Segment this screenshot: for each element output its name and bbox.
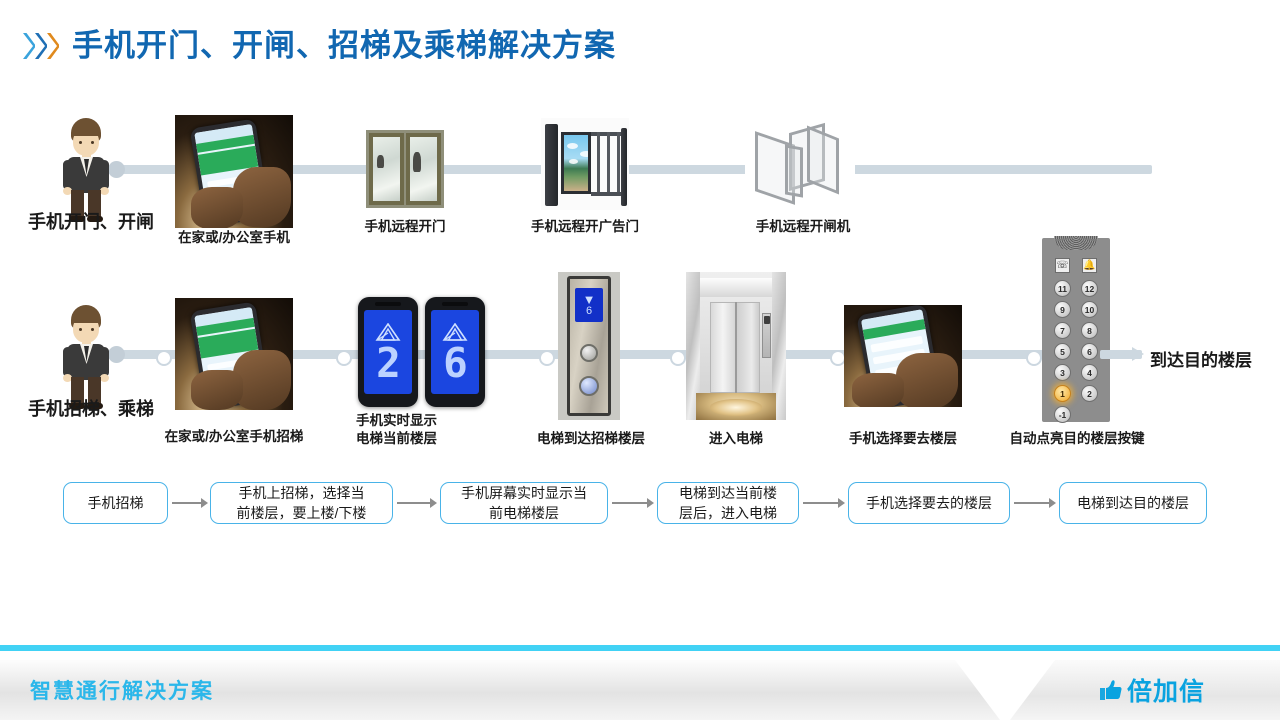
flow-box-6-text: 电梯到达目的楼层 <box>1077 493 1189 513</box>
row2-phone-select-floor-photo <box>844 305 962 407</box>
row2-phone-in-hand-photo <box>175 298 293 410</box>
thumbs-up-icon <box>1098 677 1124 703</box>
row2-hall-call-panel-photo: ▼ 6 <box>558 272 620 420</box>
brand-logo: 倍加信 <box>1098 672 1205 708</box>
row2-label: 手机招梯、乘梯 <box>28 395 154 421</box>
slide-root: 手机开门、开闸、招梯及乘梯解决方案 手机开门、开闸 在家或/办公室手机 <box>0 0 1280 720</box>
row2-caption-5: 手机选择要去楼层 <box>838 430 968 448</box>
flow-box-2-line1: 手机上招梯，选择当 <box>239 483 365 503</box>
floor-button-3[interactable]: 3 <box>1054 364 1071 381</box>
row1-caption-4: 手机远程开闸机 <box>740 218 866 236</box>
phone-icon[interactable]: ☏ <box>1055 258 1070 273</box>
row1-glass-door-photo <box>366 130 444 208</box>
floor-button-1-active[interactable]: 1 <box>1054 385 1071 402</box>
floor-button-8[interactable]: 8 <box>1081 322 1098 339</box>
blue-phone-right: 6 <box>425 297 485 407</box>
flow-arrow-3 <box>612 497 654 509</box>
row2-caption-4: 进入电梯 <box>690 430 782 448</box>
row2-caption-3: 电梯到达招梯楼层 <box>527 430 655 448</box>
flow-box-4-line1: 电梯到达当前楼 <box>679 483 777 503</box>
brand-logo-text: 倍加信 <box>1127 672 1205 708</box>
row1-label: 手机开门、开闸 <box>28 208 154 234</box>
floor-button-4[interactable]: 4 <box>1081 364 1098 381</box>
flow-box-1-text: 手机招梯 <box>88 493 144 513</box>
flow-box-5[interactable]: 手机选择要去的楼层 <box>848 482 1010 524</box>
flow-arrow-5 <box>1014 497 1056 509</box>
flow-box-4[interactable]: 电梯到达当前楼 层后，进入电梯 <box>657 482 799 524</box>
flow-arrow-1 <box>172 497 208 509</box>
floor-button-11[interactable]: 11 <box>1054 280 1071 297</box>
blue-phone-left: 2 <box>358 297 418 407</box>
row2-elevator-button-panel: ☏ 🔔 11 12 9 10 7 8 5 6 3 4 1 2 -1 <box>1042 238 1110 422</box>
blue-phone-left-floor: 2 <box>376 345 400 382</box>
flow-box-3[interactable]: 手机屏幕实时显示当 前电梯楼层 <box>440 482 608 524</box>
floor-button-2[interactable]: 2 <box>1081 385 1098 402</box>
footer-accent-line <box>0 645 1280 651</box>
row2-node-3 <box>539 350 555 366</box>
flow-arrow-2 <box>397 497 437 509</box>
floor-button-6[interactable]: 6 <box>1081 343 1098 360</box>
flow-box-3-line1: 手机屏幕实时显示当 <box>461 483 587 503</box>
flow-box-1[interactable]: 手机招梯 <box>63 482 168 524</box>
row1-caption-3: 手机远程开广告门 <box>515 218 655 236</box>
row2-end-arrow-icon <box>1132 347 1144 361</box>
floor-button-9[interactable]: 9 <box>1054 301 1071 318</box>
flow-box-3-line2: 前电梯楼层 <box>489 503 559 523</box>
row1-turnstile-photo <box>745 120 855 212</box>
row2-caption-1: 在家或/办公室手机招梯 <box>158 428 310 446</box>
row2-person-icon <box>58 305 114 409</box>
row2-caption-2-line1: 手机实时显示 <box>356 412 506 430</box>
row1-advertising-gate-photo <box>541 118 629 210</box>
row2-node-6 <box>1026 350 1042 366</box>
flow-box-4-line2: 层后，进入电梯 <box>679 503 777 523</box>
row1-caption-1: 在家或/办公室手机 <box>176 229 292 247</box>
floor-button-10[interactable]: 10 <box>1081 301 1098 318</box>
row2-node-2 <box>336 350 352 366</box>
row2-caption-6: 自动点亮目的楼层按键 <box>1002 430 1152 448</box>
page-title-text: 手机开门、开闸、招梯及乘梯解决方案 <box>72 30 616 61</box>
row2-node-4 <box>670 350 686 366</box>
row1-person-icon <box>58 118 114 222</box>
flow-arrow-4 <box>803 497 845 509</box>
flow-box-5-text: 手机选择要去的楼层 <box>866 493 992 513</box>
bell-icon[interactable]: 🔔 <box>1082 258 1097 273</box>
row1-caption-2: 手机远程开门 <box>345 218 465 236</box>
footer-band-text: 智慧通行解决方案 <box>30 675 214 705</box>
blue-phone-right-floor: 6 <box>443 345 467 382</box>
chevron-right-icon-3 <box>46 31 59 61</box>
flow-box-6[interactable]: 电梯到达目的楼层 <box>1059 482 1207 524</box>
floor-button-minus1[interactable]: -1 <box>1054 406 1071 423</box>
flow-box-2[interactable]: 手机上招梯，选择当 前楼层，要上楼/下楼 <box>210 482 393 524</box>
floor-button-7[interactable]: 7 <box>1054 322 1071 339</box>
row2-elevator-cabin-photo <box>686 272 786 420</box>
row2-end-label: 到达目的楼层 <box>1150 346 1252 371</box>
row2-caption-2-line2: 电梯当前楼层 <box>356 430 506 448</box>
floor-button-12[interactable]: 12 <box>1081 280 1098 297</box>
page-title: 手机开门、开闸、招梯及乘梯解决方案 <box>22 30 616 61</box>
flow-box-2-line2: 前楼层，要上楼/下楼 <box>237 503 367 523</box>
chevron-group-icon <box>22 31 58 61</box>
row1-phone-in-hand-photo <box>175 115 293 228</box>
floor-button-5[interactable]: 5 <box>1054 343 1071 360</box>
row2-node-1 <box>156 350 172 366</box>
